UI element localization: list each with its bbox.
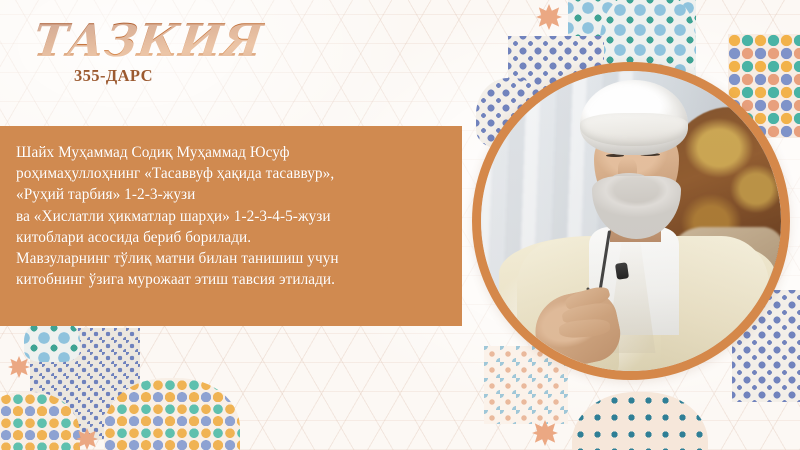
lesson-number-label: 355-ДАРС [74, 66, 263, 86]
decoration-star-top [536, 4, 562, 30]
decoration-star-bottom-mid [76, 428, 98, 450]
brand-block: ТАЗКИЯ 355-ДАРС [34, 18, 263, 86]
decoration-star-bottom-right [532, 420, 558, 446]
page-title: ТАЗКИЯ [31, 18, 265, 63]
decoration-bottom-right-dots [572, 392, 708, 450]
portrait-frame [472, 62, 790, 380]
description-text: Шайх Муҳаммад Содиқ Муҳаммад Юсуф роҳима… [16, 142, 446, 290]
decoration-bottom-center-cloud [104, 378, 240, 450]
speaker-photo [481, 71, 781, 371]
lapel-microphone [615, 262, 629, 280]
decoration-bottom-left-soft-cloud [0, 392, 80, 450]
slide-canvas: ТАЗКИЯ 355-ДАРС Шайх Муҳаммад Содиқ Муҳа… [0, 0, 800, 450]
portrait-ring-border [472, 62, 790, 380]
